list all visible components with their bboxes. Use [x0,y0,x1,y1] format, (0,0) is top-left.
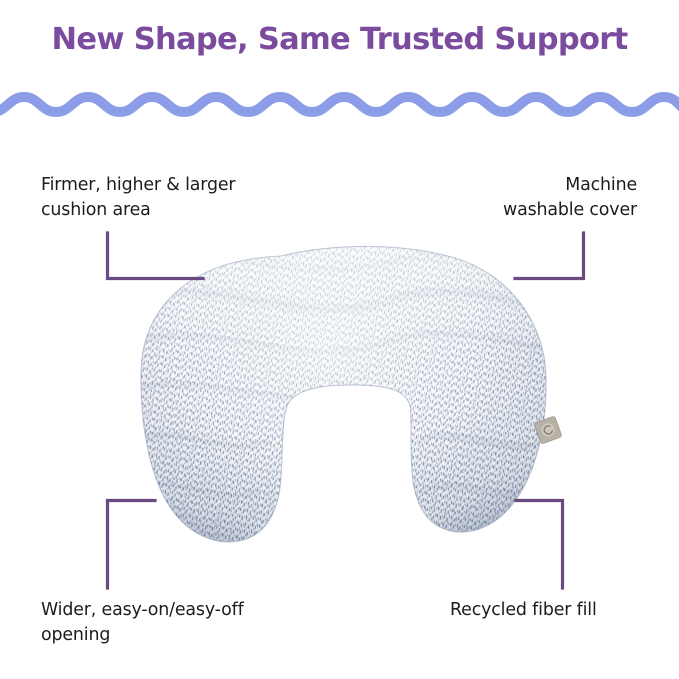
product-feature-infographic: New Shape, Same Trusted Support [0,0,679,679]
callout-line-2: opening [41,623,371,648]
pillow-body [118,246,572,541]
callout-recycled-fill: Recycled fiber fill [450,598,679,623]
product-illustration [0,0,679,679]
callout-wider-opening: Wider, easy-on/easy-off opening [41,598,371,648]
callout-line-2: washable cover [337,198,637,223]
callout-line-1: Machine [337,173,637,198]
callout-machine-washable: Machine washable cover [337,173,637,223]
callout-line-1: Recycled fiber fill [450,598,679,623]
callout-line-1: Firmer, higher & larger [41,173,341,198]
callout-line-2: cushion area [41,198,341,223]
callout-line-1: Wider, easy-on/easy-off [41,598,371,623]
callout-firmer-cushion: Firmer, higher & larger cushion area [41,173,341,223]
